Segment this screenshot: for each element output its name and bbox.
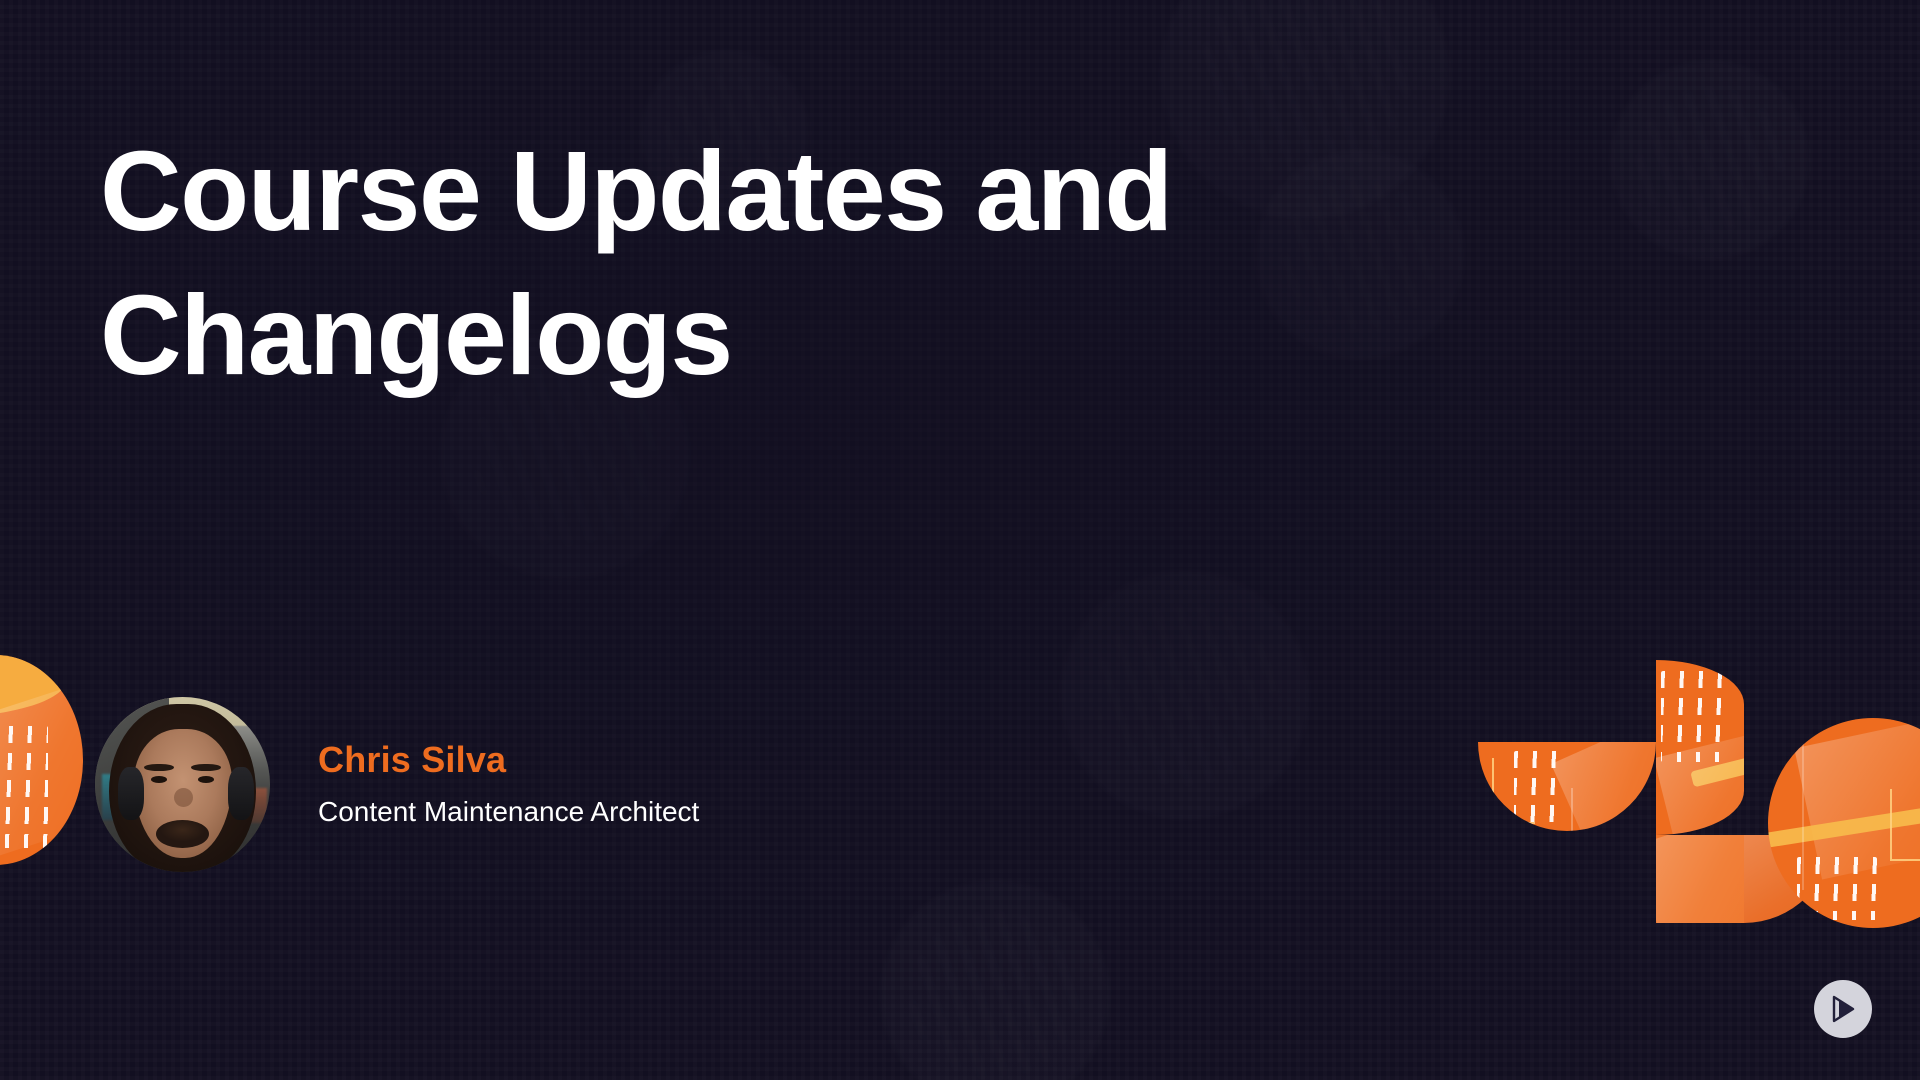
presentation-slide: Course Updates and Changelogs Chris Silv	[0, 0, 1920, 1080]
decorative-shape-square-block	[1656, 835, 1744, 923]
speaker-text: Chris Silva Content Maintenance Architec…	[318, 738, 699, 830]
decorative-light-beam	[0, 681, 83, 859]
decorative-rain-strokes	[1797, 857, 1877, 920]
decorative-shape-right-semicircle	[1656, 660, 1744, 835]
background-watermark-circle	[880, 880, 1110, 1080]
avatar-headphone-right	[228, 767, 254, 820]
speaker-name: Chris Silva	[318, 738, 699, 781]
title-line-1: Course Updates and	[100, 120, 1360, 264]
avatar-headphone-left	[118, 767, 144, 820]
background-watermark-circle	[1060, 570, 1310, 820]
double-play-triangle-icon	[1826, 992, 1860, 1026]
slide-title: Course Updates and Changelogs	[100, 120, 1360, 407]
avatar-eye-left	[151, 776, 167, 783]
avatar-beard	[156, 820, 209, 848]
speaker-block: Chris Silva Content Maintenance Architec…	[95, 697, 699, 872]
pluralsight-logo[interactable]	[1814, 980, 1872, 1038]
decorative-shape-left-half-circle	[0, 655, 83, 865]
avatar-eye-right	[198, 776, 214, 783]
avatar	[95, 697, 270, 872]
speaker-role: Content Maintenance Architect	[318, 792, 699, 831]
decorative-shape-lower-semicircle	[1478, 742, 1656, 831]
background-watermark-circle	[1610, 60, 1810, 260]
title-line-2: Changelogs	[100, 264, 1360, 408]
